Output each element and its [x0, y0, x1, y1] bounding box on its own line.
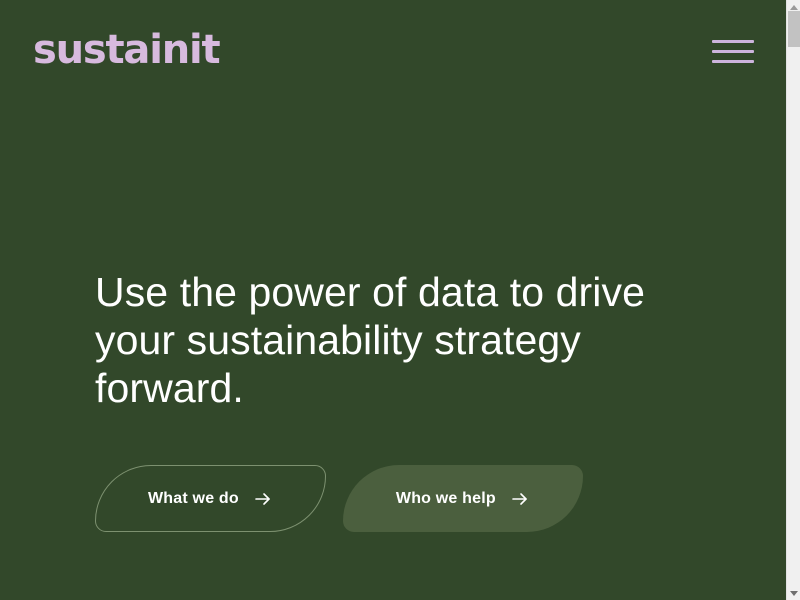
who-we-help-button[interactable]: Who we help [343, 465, 583, 532]
what-we-do-label: What we do [148, 490, 239, 508]
arrow-right-icon [510, 489, 530, 509]
what-we-do-button[interactable]: What we do [95, 465, 326, 532]
hero-headline: Use the power of data to drive your sust… [95, 268, 655, 412]
scroll-up-glyph [790, 5, 798, 10]
who-we-help-label: Who we help [396, 490, 496, 508]
scroll-down-arrow-icon[interactable] [787, 586, 800, 600]
vertical-scrollbar[interactable] [786, 0, 800, 600]
browser-viewport: sustainit Use the power of data to drive… [0, 0, 800, 600]
scrollbar-thumb[interactable] [788, 11, 800, 47]
scroll-down-glyph [790, 591, 798, 596]
hero-cta-group: What we do Who we help [95, 465, 583, 532]
arrow-right-icon [253, 489, 273, 509]
hero-section: Use the power of data to drive your sust… [0, 0, 786, 600]
page-content: sustainit Use the power of data to drive… [0, 0, 786, 600]
